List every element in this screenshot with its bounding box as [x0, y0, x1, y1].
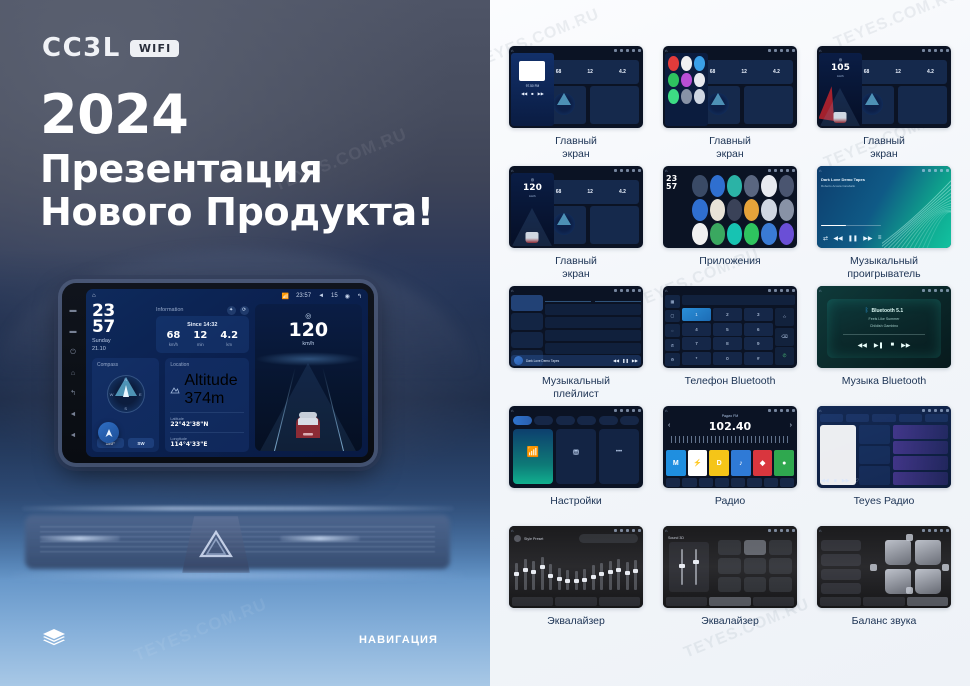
progress-bar	[821, 225, 881, 227]
station-list[interactable]	[893, 425, 948, 485]
nav-icon[interactable]: ▢	[665, 310, 680, 323]
bt-version: Bluetooth 5.1	[871, 308, 903, 314]
effect-button[interactable]	[718, 540, 741, 555]
app-icon	[681, 73, 692, 88]
radio-station: 97.50 FM	[511, 84, 554, 88]
app-icon	[668, 89, 679, 104]
headline-line-2: Нового Продукта!	[40, 191, 434, 234]
preset-selector[interactable]	[579, 534, 638, 543]
effect-button[interactable]	[769, 540, 792, 555]
home-icon[interactable]: ⌂	[819, 168, 821, 173]
home-icon[interactable]: ⌂	[819, 528, 821, 533]
back-icon[interactable]: ↰	[357, 293, 362, 300]
wifi-icon: 📶	[282, 293, 289, 300]
screenshot-thumbnail[interactable]: ⌂ ᛒ Bluetooth 5.1 Feels Like Summer Chil…	[817, 286, 951, 368]
navigation-arrow-icon	[104, 428, 114, 438]
thumbnail-label: Главный экран	[555, 255, 597, 281]
next-station-icon[interactable]: ›	[790, 422, 792, 429]
information-title: Information	[156, 307, 184, 313]
app-icon[interactable]	[744, 175, 759, 197]
tuning-scale[interactable]	[671, 436, 789, 443]
apps-icon[interactable]: ◉	[345, 293, 350, 300]
driving-widget[interactable]: ◎ 120 km/h	[255, 304, 362, 451]
dial-key[interactable]: 2	[713, 308, 742, 321]
home-icon[interactable]: ⌂	[511, 288, 513, 293]
clock-widget[interactable]: 23 57 Sunday 21.10	[92, 304, 150, 353]
car-icon	[526, 232, 539, 243]
nav-icon[interactable]: ✆	[665, 339, 680, 352]
compass-n: N	[124, 377, 127, 382]
status-bar: ⌂	[511, 287, 641, 294]
thumbnail-label: Телефон Bluetooth	[685, 375, 776, 388]
app-icon[interactable]	[744, 223, 759, 245]
menu-icon[interactable]: ◄	[70, 432, 77, 439]
altitude-label: Altitude	[184, 372, 237, 390]
brand-name: CC3L	[42, 33, 121, 63]
wifi-icon: 📶	[527, 447, 539, 458]
gallery-cell: ⌂ Баланс звука	[812, 526, 956, 646]
screenshot-thumbnail[interactable]: ⌂ Dark Love Demo Tapes Roberto Acosta Ca…	[817, 166, 951, 248]
track-list[interactable]	[545, 295, 641, 354]
category-item	[511, 332, 543, 348]
dial-pad[interactable]: 123456789*0# ☆⌫✆	[682, 308, 794, 365]
stat-item: 12 min	[193, 331, 207, 348]
wifi-badge: WIFI	[130, 40, 180, 57]
clock-date: 21.10	[92, 346, 150, 353]
screenshot-thumbnail[interactable]: ⌂ 23 57 Sunday 68124.2 ◎ 105 km/h	[817, 46, 951, 128]
track-row[interactable]	[545, 304, 641, 315]
thumbnail-grid: ⌂ 23 57 Sunday 68124.2 97.50 FM ◀	[504, 46, 956, 646]
settings-tab[interactable]	[534, 416, 553, 425]
gallery-cell: ⌂ 23 57 Sunday 68124.2 ◎ 120 km/h	[504, 166, 648, 286]
air-vent-slit-right	[280, 536, 360, 541]
eq-tabs[interactable]	[666, 597, 794, 606]
app-icon[interactable]	[727, 199, 742, 221]
dial-key[interactable]: *	[682, 352, 711, 365]
eq-band[interactable]	[634, 560, 637, 590]
eq-band[interactable]	[549, 564, 552, 590]
eq-band[interactable]	[566, 570, 569, 590]
dial-key[interactable]: 5	[713, 323, 742, 336]
screenshot-thumbnail[interactable]: ⌂ ▦▢◌✆⚙ 123456789*0# ☆⌫✆	[663, 286, 797, 368]
gallery-cell: ⌂ Sound 3D Эквалайзер	[658, 526, 802, 646]
app-icon[interactable]	[710, 223, 725, 245]
left-hero-panel: TEYES.COM.RU TEYES.COM.RU TEYES.COM.RU C…	[0, 0, 490, 686]
driving-widget: ◎ 120 km/h	[511, 173, 554, 246]
album-art	[514, 356, 523, 365]
headline-line-1: Презентация	[40, 148, 434, 191]
dial-display	[682, 295, 795, 305]
category-item	[511, 313, 543, 329]
eq-band[interactable]	[592, 565, 595, 590]
track-row[interactable]	[545, 330, 641, 341]
nav-icon[interactable]: ◌	[665, 324, 680, 337]
radio-frequency: 102.40	[663, 420, 797, 433]
balance-down-button[interactable]	[906, 587, 913, 594]
settings-tab[interactable]	[577, 416, 596, 425]
nav-icon[interactable]: ⚙	[665, 353, 680, 366]
gallery-cell: ⌂ ᛒ Bluetooth 5.1 Feels Like Summer Chil…	[812, 286, 956, 406]
app-icon	[694, 56, 705, 71]
preset-button[interactable]: ◆	[753, 450, 773, 476]
pause-icon: ❚❚	[622, 358, 629, 363]
prev-icon: ◀◀	[821, 478, 829, 484]
home-icon[interactable]: ⌂	[511, 528, 513, 533]
thumbnail-label: Главный экран	[863, 135, 905, 161]
longitude-value: 114°4'33"E	[170, 441, 243, 448]
eq-band[interactable]	[600, 563, 603, 590]
transport-controls: ◀◀■▶▶♡	[821, 478, 859, 484]
speed-value: 105	[819, 63, 862, 73]
dial-key[interactable]: 4	[682, 323, 711, 336]
mini-player-bar[interactable]: Dark Love Demo Tapes ◀◀ ❚❚ ▶▶	[511, 355, 641, 366]
gallery-cell: ⌂ 23 57 Sunday 68124.2 ◎ 105 km/h	[812, 46, 956, 166]
information-card: 68124.2	[543, 180, 639, 204]
prev-icon: ◀◀	[858, 342, 867, 349]
information-card: Since 14:32 68 km/h 12 min	[156, 316, 249, 353]
balance-tabs[interactable]	[820, 597, 948, 606]
screenshot-thumbnail[interactable]: ⌂ 📶 ⛃ •••	[509, 406, 643, 488]
gallery-cell: ⌂ 23 57 Sunday 68124.2 Главный	[658, 46, 802, 166]
home-icon[interactable]: ⌂	[819, 408, 821, 413]
home-icon[interactable]: ⌂	[665, 168, 667, 173]
balance-left-button[interactable]	[870, 564, 877, 571]
playpause-icon: ▶❚	[874, 342, 884, 349]
home-icon[interactable]: ⌂	[665, 288, 667, 293]
eq-band[interactable]	[532, 561, 535, 590]
clock-minutes: 57	[92, 320, 150, 336]
track-row[interactable]	[545, 343, 641, 354]
thumbnail-label: Главный экран	[555, 135, 597, 161]
dial-key[interactable]: 8	[713, 337, 742, 350]
settings-cards[interactable]: 📶 ⛃ •••	[513, 429, 639, 484]
sound-effect-grid[interactable]	[718, 540, 792, 592]
status-bar: ⌂	[665, 167, 795, 174]
stat-value: 4.2	[220, 331, 238, 341]
status-time: 23:57	[296, 293, 311, 299]
app-icon[interactable]	[761, 199, 776, 221]
effect-button[interactable]	[744, 577, 767, 592]
location-card	[590, 86, 639, 124]
dial-key[interactable]: #	[744, 352, 773, 365]
app-icon[interactable]	[727, 175, 742, 197]
app-icon[interactable]	[692, 175, 707, 197]
bluetooth-icon: ᛒ	[865, 308, 869, 314]
star-icon[interactable]: ☆	[775, 308, 794, 326]
screenshot-thumbnail[interactable]: ⌂ 23 57	[663, 166, 797, 248]
compass-s: S	[124, 406, 127, 411]
headline-year: 2024	[40, 88, 434, 142]
status-bar: ⌂	[665, 287, 795, 294]
status-bar: ⌂	[511, 527, 641, 534]
stat-unit: min	[193, 342, 207, 347]
app-icon[interactable]	[692, 199, 707, 221]
volume-level: 15	[331, 293, 338, 299]
location-card	[898, 86, 947, 124]
app-icon[interactable]	[710, 175, 725, 197]
app-icon	[668, 56, 679, 71]
balance-up-button[interactable]	[906, 534, 913, 541]
settings-tab[interactable]	[620, 416, 639, 425]
eq-band[interactable]	[524, 559, 527, 590]
screenshot-thumbnail[interactable]: ⌂ Радио FM 102.40 ‹ › M⚡D♪◆●	[663, 406, 797, 488]
home-icon[interactable]: ⌂	[92, 293, 96, 299]
hazard-light-button[interactable]	[199, 529, 233, 559]
next-icon: ▶▶	[632, 358, 638, 363]
car-icon: ⛃	[573, 448, 580, 457]
tab-wifi[interactable]	[513, 416, 532, 425]
altitude-value: 374m	[184, 390, 237, 408]
eq-band[interactable]	[583, 569, 586, 590]
cabin-seats[interactable]	[885, 540, 941, 594]
carplay-card[interactable]: ⛃	[556, 429, 596, 484]
app-icon[interactable]	[779, 199, 794, 221]
app-icon[interactable]	[692, 223, 707, 245]
app-icon[interactable]	[779, 175, 794, 197]
eq-preset-label: Style Preset	[514, 535, 543, 542]
category-item	[511, 295, 543, 311]
location-rows: Altitude 374m Latitude 22°42'38"N	[170, 372, 243, 448]
eq-tabs[interactable]	[512, 597, 640, 606]
radio-band: Радио FM	[663, 414, 797, 418]
wifi-card[interactable]: 📶	[513, 429, 553, 484]
effect-button[interactable]	[769, 558, 792, 573]
information-header: Information ✦ ⟳	[156, 304, 249, 316]
altitude-row: Altitude 374m	[170, 372, 243, 408]
screenshot-thumbnail[interactable]: ⌂ 23 57 Sunday 68124.2 ◎ 120 km/h	[509, 166, 643, 248]
eq-band[interactable]	[617, 559, 620, 590]
settings-tab[interactable]	[599, 416, 618, 425]
screenshot-thumbnail[interactable]: ⌂ 23 57 Sunday 68124.2 97.50 FM ◀	[509, 46, 643, 128]
eq-band[interactable]	[626, 562, 629, 590]
stat-value: 68	[166, 331, 180, 341]
status-bar: ⌂	[665, 527, 795, 534]
home-icon[interactable]: ⌂	[665, 408, 667, 413]
preset-button[interactable]: ♪	[731, 450, 751, 476]
track-title: Dark Love Demo Tapes	[526, 359, 610, 363]
settings-tabs[interactable]	[513, 416, 639, 425]
station-meta	[859, 425, 890, 485]
volume-down-icon[interactable]: ▬	[70, 307, 77, 314]
effect-button[interactable]	[744, 558, 767, 573]
app-icon	[694, 73, 705, 88]
thumbnail-label: Радио	[715, 495, 745, 508]
sound-sliders[interactable]	[669, 542, 709, 592]
transport-controls: ◀◀▶❚■▶▶	[858, 342, 911, 349]
location-widget[interactable]: Location Altitude 374m	[165, 358, 248, 452]
dial-key[interactable]: 9	[744, 337, 773, 350]
car-icon	[834, 112, 847, 123]
next-icon: ▶▶	[842, 478, 850, 484]
app-icon	[681, 89, 692, 104]
gallery-cell: ⌂ ◀◀■▶▶♡Teyes Радио	[812, 406, 956, 526]
eq-band[interactable]	[515, 563, 518, 590]
track-artist: Roberto Acosta Caraballo	[821, 184, 881, 188]
eq-icon	[514, 535, 521, 542]
balance-right-button[interactable]	[942, 564, 949, 571]
navigation-label: НАВИГАЦИЯ	[359, 634, 438, 646]
app-icon[interactable]	[779, 223, 794, 245]
power-icon[interactable]: ⏻	[70, 349, 76, 356]
preset-button[interactable]: M	[666, 450, 686, 476]
home-icon[interactable]: ⌂	[665, 528, 667, 533]
settings-icon[interactable]: ✦	[227, 306, 236, 315]
teyes-toolbar[interactable]	[820, 414, 948, 422]
left-footer: НАВИГАЦИЯ	[0, 628, 490, 658]
nav-icon[interactable]: ▦	[665, 295, 680, 308]
thumbnail-label: Настройки	[550, 495, 602, 508]
compass-direction: SW	[128, 438, 155, 448]
information-widget[interactable]: Information ✦ ⟳ Since 14:32	[156, 304, 249, 353]
thumbnail-label: Музыкальный проигрыватель	[847, 255, 920, 281]
clock-day: Sunday	[92, 338, 150, 345]
stop-icon: ■	[834, 478, 837, 484]
refresh-icon[interactable]: ⟳	[240, 306, 249, 315]
app-icon	[668, 73, 679, 88]
effect-button[interactable]	[718, 577, 741, 592]
bt-artist: Childish Gambino	[870, 324, 898, 328]
watermark: TEYES.COM.RU	[831, 0, 962, 52]
product-logo: CC3L WIFI	[42, 33, 179, 63]
thumbnail-label: Баланс звука	[852, 615, 917, 628]
thumbnail-label: Главный экран	[709, 135, 751, 161]
stop-icon: ■	[891, 342, 895, 349]
screen-body: 23 57 Sunday 21.10 Information ✦	[92, 304, 362, 451]
now-playing: Dark Love Demo Tapes Roberto Acosta Cara…	[821, 177, 881, 188]
dial-key[interactable]: 1	[682, 308, 711, 321]
location-card	[590, 206, 639, 244]
dial-key[interactable]: 3	[744, 308, 773, 321]
speed-unit: km/h	[511, 194, 554, 198]
eq-band[interactable]	[609, 561, 612, 590]
status-bar: ⌂	[665, 407, 795, 414]
dial-key[interactable]: 0	[713, 352, 742, 365]
prev-station-icon[interactable]: ‹	[668, 422, 670, 429]
balance-presets[interactable]	[821, 540, 861, 594]
screen-left-column: 23 57 Sunday 21.10 Information ✦	[92, 304, 249, 451]
speed-unit: km/h	[255, 341, 362, 347]
app-icon	[681, 56, 692, 71]
app-icon[interactable]	[744, 199, 759, 221]
more-card[interactable]: •••	[599, 429, 639, 484]
compass-needle	[123, 385, 129, 397]
latitude-value: 22°42'38"N	[170, 421, 243, 428]
slider	[695, 549, 698, 585]
thumbnail-label: Teyes Радио	[854, 495, 915, 508]
app-icon[interactable]	[727, 223, 742, 245]
equalizer-bands[interactable]	[515, 546, 637, 590]
phone-nav[interactable]: ▦▢◌✆⚙	[665, 295, 680, 366]
app-drawer[interactable]	[692, 175, 794, 245]
gallery-cell: ⌂ 23 57 Sunday 68124.2 97.50 FM ◀	[504, 46, 648, 166]
screenshot-thumbnail[interactable]: ⌂ ◀◀■▶▶♡	[817, 406, 951, 488]
radio-toolbar[interactable]	[666, 478, 794, 487]
music-widget: 97.50 FM ◀◀■▶▶	[511, 53, 554, 126]
screenshot-gallery-panel: TEYES.COM.RU TEYES.COM.RU TEYES.COM.RU T…	[490, 0, 970, 686]
seat	[885, 540, 911, 565]
effect-button[interactable]	[769, 577, 792, 592]
head-unit-screen: ⌂ 📶 23:57 ◄ 15 ◉ ↰ 23	[86, 289, 368, 457]
back-icon[interactable]: ↰	[70, 390, 76, 397]
stat-value: 12	[193, 331, 207, 341]
preset-button[interactable]: ●	[774, 450, 794, 476]
eq-title: Sound 3D	[668, 536, 684, 540]
compass-title: Compass	[97, 362, 154, 368]
latitude-row: Latitude 22°42'38"N	[170, 417, 243, 428]
head-unit: ▬ ▬ ⏻ ⌂ ↰ ◄ ◄ ⌂ 📶 23:57 ◄ 15 ◉ ↰	[62, 283, 374, 463]
screenshot-thumbnail[interactable]: ⌂ Sound 3D	[663, 526, 797, 608]
home-icon[interactable]: ⌂	[819, 288, 821, 293]
dashboard-trim-top	[22, 506, 454, 511]
list-icon: ≡	[878, 235, 882, 242]
prev-icon: ◀◀	[613, 358, 619, 363]
stat-unit: km/h	[166, 342, 180, 347]
preset-button[interactable]: D	[709, 450, 729, 476]
album-art	[519, 61, 545, 81]
information-card: 68124.2	[851, 60, 947, 84]
mute-icon[interactable]: ◄	[70, 411, 77, 418]
clock-widget: 23 57	[666, 175, 690, 190]
trip-stats: 68 km/h 12 min 4.2	[160, 331, 245, 348]
volume-up-icon[interactable]: ▬	[70, 328, 77, 335]
head-unit-side-buttons[interactable]: ▬ ▬ ⏻ ⌂ ↰ ◄ ◄	[62, 283, 84, 463]
navigation-fab-button[interactable]	[98, 422, 119, 443]
eq-band[interactable]	[541, 557, 544, 590]
eq-band[interactable]	[558, 568, 561, 590]
layers-icon[interactable]	[42, 628, 66, 653]
information-card: 68124.2	[697, 60, 793, 84]
home-icon[interactable]: ⌂	[71, 370, 75, 377]
speed-unit: km/h	[819, 74, 862, 78]
settings-tab[interactable]	[556, 416, 575, 425]
app-icon[interactable]	[761, 175, 776, 197]
station-presets[interactable]: M⚡D♪◆●	[666, 450, 794, 476]
location-card	[744, 86, 793, 124]
app-icon[interactable]	[710, 199, 725, 221]
clock-and-info-row: 23 57 Sunday 21.10 Information ✦	[92, 304, 249, 353]
app-icon[interactable]	[761, 223, 776, 245]
dial-key[interactable]: 7	[682, 337, 711, 350]
speed-limit-icon: ◎	[511, 177, 554, 182]
progress-bar	[843, 334, 925, 335]
screenshot-thumbnail[interactable]: ⌂ Dark Love Demo Tapes ◀◀ ❚❚ ▶▶	[509, 286, 643, 368]
dial-key[interactable]: 6	[744, 323, 773, 336]
track-title: Dark Love Demo Tapes	[821, 177, 881, 182]
effect-button[interactable]	[744, 540, 767, 555]
backspace-icon[interactable]: ⌫	[775, 328, 794, 346]
home-icon[interactable]: ⌂	[511, 408, 513, 413]
call-icon[interactable]: ✆	[775, 347, 794, 365]
app-icon	[694, 89, 705, 104]
car-icon	[290, 410, 326, 445]
eq-band[interactable]	[575, 571, 578, 590]
transport-controls: ⇄◀◀❚❚▶▶≡	[823, 235, 881, 242]
stop-icon: ■	[531, 91, 533, 96]
bluetooth-card: ᛒ Bluetooth 5.1 Feels Like Summer Childi…	[827, 299, 941, 358]
compass-e: E	[139, 392, 142, 397]
screenshot-thumbnail[interactable]: ⌂ Style Preset	[509, 526, 643, 608]
preset-button[interactable]: ⚡	[688, 450, 708, 476]
track-row[interactable]	[545, 317, 641, 328]
presentation-slide: TEYES.COM.RU TEYES.COM.RU TEYES.COM.RU C…	[0, 0, 970, 686]
screenshot-thumbnail[interactable]: ⌂ 23 57 Sunday 68124.2	[663, 46, 797, 128]
effect-button[interactable]	[718, 558, 741, 573]
location-title: Location	[170, 362, 243, 368]
screenshot-thumbnail[interactable]: ⌂	[817, 526, 951, 608]
status-bar: ⌂	[819, 287, 949, 294]
gallery-cell: ⌂ Dark Love Demo Tapes ◀◀ ❚❚ ▶▶Музыкальн…	[504, 286, 648, 406]
thumbnail-label: Музыка Bluetooth	[842, 375, 926, 388]
